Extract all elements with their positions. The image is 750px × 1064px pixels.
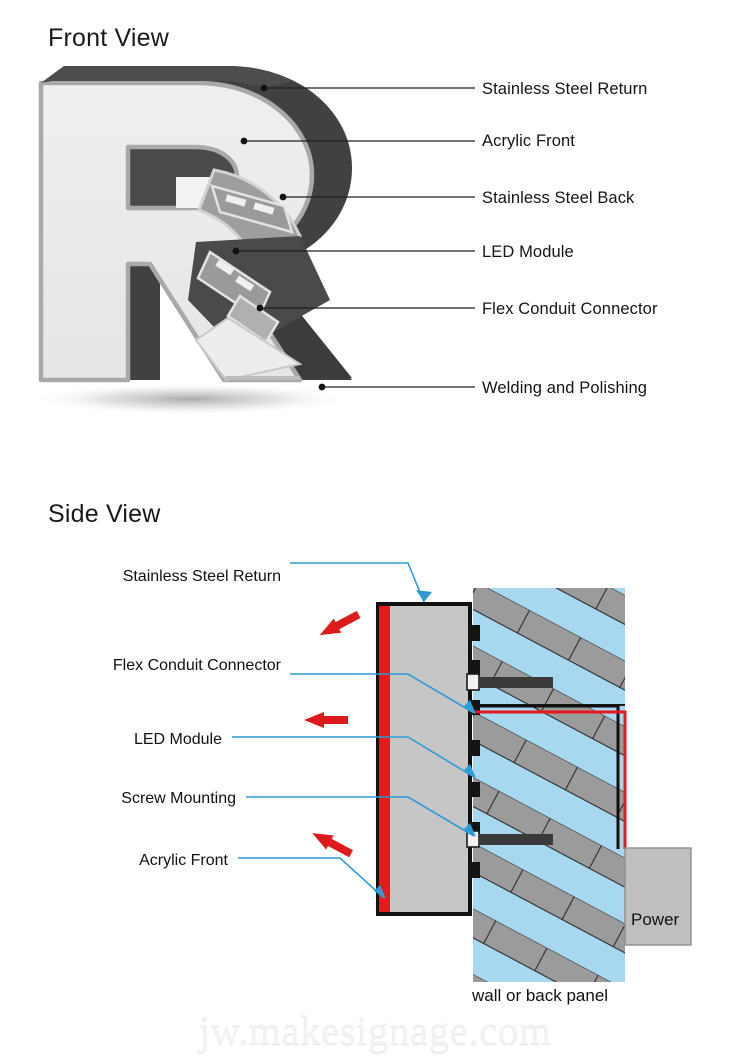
stainless-steel-return-body xyxy=(41,66,352,380)
leader-dot xyxy=(319,384,326,391)
site-watermark: jw.makesignage.com xyxy=(0,1006,750,1054)
side-view-title: Side View xyxy=(48,500,161,529)
inner-lit-surface xyxy=(196,318,300,380)
letter-drop-shadow xyxy=(30,383,350,415)
leader-arrowhead xyxy=(374,885,386,899)
callout-welding-and-polishing: Welding and Polishing xyxy=(482,379,647,398)
callout-stainless-steel-back: Stainless Steel Back xyxy=(482,189,634,208)
letter-counter-inner-light xyxy=(176,177,237,208)
stainless-steel-return-section xyxy=(376,602,478,916)
wire-red xyxy=(474,712,625,849)
welding-and-polishing-edge xyxy=(224,376,300,380)
leader-arrowhead xyxy=(464,823,476,837)
led-module-tab xyxy=(468,700,480,715)
return-top-bevel xyxy=(41,66,292,88)
letter-leg-dark xyxy=(196,266,352,378)
leader-dot xyxy=(261,85,268,92)
open-flap-interior xyxy=(199,170,300,268)
leader-arrowhead xyxy=(416,590,432,602)
leader-dot xyxy=(233,248,240,255)
led-module-tab xyxy=(468,782,480,797)
wall-panel-upper xyxy=(473,588,625,706)
front-view-leader-lines xyxy=(236,88,475,387)
wall-panel-lower xyxy=(473,706,625,982)
screw-mounting-lower xyxy=(467,831,553,847)
front-view-leader-dots xyxy=(233,85,326,391)
red-arrow-top xyxy=(316,607,362,642)
side-label-acrylic-front: Acrylic Front xyxy=(0,852,228,870)
power-supply-box xyxy=(625,848,691,945)
led-module-strip-upper xyxy=(212,186,292,232)
front-view-letter-group xyxy=(30,66,352,415)
acrylic-front-face xyxy=(41,83,312,380)
led-module-tab xyxy=(468,625,480,641)
diagram-vectors xyxy=(0,0,750,1064)
leader-dot xyxy=(257,305,264,312)
side-view-leader-lines xyxy=(232,563,474,898)
leader-acrylic-front-side xyxy=(238,858,384,898)
wire-black xyxy=(474,706,618,849)
side-view-arrowheads xyxy=(374,590,476,899)
side-label-screw-mounting: Screw Mounting xyxy=(0,790,236,808)
diagram-canvas: Front View Side View xyxy=(0,0,750,1064)
leader-stainless-steel-return-side xyxy=(290,563,424,602)
red-arrow-middle xyxy=(304,712,348,728)
side-view-group xyxy=(232,563,691,982)
led-module-tab xyxy=(468,660,480,676)
power-wiring xyxy=(474,706,625,849)
sign-interior-body xyxy=(390,606,468,912)
callout-stainless-steel-return: Stainless Steel Return xyxy=(482,80,647,99)
power-supply-label: Power xyxy=(631,910,679,930)
acrylic-front-strip xyxy=(379,606,390,912)
red-arrow-bottom xyxy=(308,826,354,861)
led-module-tab xyxy=(468,862,480,878)
letter-counter-hole xyxy=(128,147,237,208)
leader-screw-mounting-side xyxy=(246,797,474,836)
flex-conduit-connector-piece xyxy=(228,296,278,342)
side-label-flex-conduit-connector: Flex Conduit Connector xyxy=(0,657,281,675)
leader-flex-conduit-connector-side xyxy=(290,674,474,713)
red-direction-arrows xyxy=(304,607,362,860)
leader-dot xyxy=(241,138,248,145)
leader-arrowhead xyxy=(464,764,476,778)
callout-acrylic-front: Acrylic Front xyxy=(482,132,575,151)
led-chip xyxy=(225,194,246,206)
led-module-tabs xyxy=(468,625,480,878)
screw-mounting-upper xyxy=(467,674,553,690)
led-module-strip-lower xyxy=(198,252,278,342)
leader-led-module-side xyxy=(232,737,474,777)
leader-arrowhead xyxy=(464,700,476,714)
led-chip xyxy=(253,202,274,214)
front-view-title: Front View xyxy=(48,24,169,53)
wall-or-back-panel-caption: wall or back panel xyxy=(472,986,608,1006)
callout-flex-conduit-connector: Flex Conduit Connector xyxy=(482,300,658,319)
lower-flap-dark xyxy=(188,236,330,352)
leader-dot xyxy=(280,194,287,201)
callout-led-module: LED Module xyxy=(482,243,574,262)
side-label-led-module: LED Module xyxy=(0,731,222,749)
led-module-tab xyxy=(468,822,480,838)
led-module-tab xyxy=(468,740,480,756)
side-label-stainless-steel-return: Stainless Steel Return xyxy=(0,568,281,586)
